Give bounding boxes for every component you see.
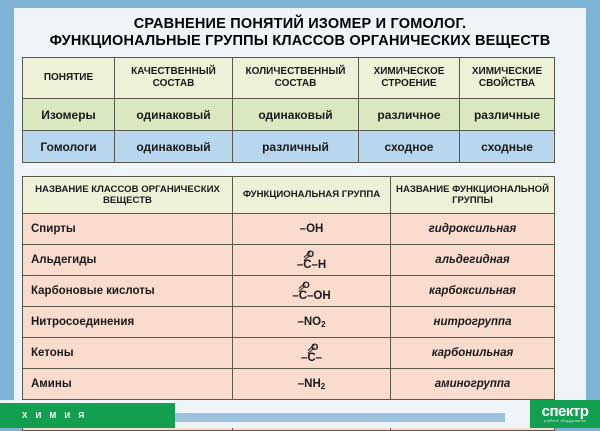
table1-header-row: ПОНЯТИЕ КАЧЕСТВЕННЫЙ СОСТАВ КОЛИЧЕСТВЕНН… (23, 58, 555, 99)
table1-cell-structure: сходное (359, 131, 460, 163)
table-row: Изомеры одинаковый одинаковый различное … (23, 99, 555, 131)
table2-cell-group-name: аминогруппа (391, 369, 555, 400)
table2-cell-group-name: нитрогруппа (391, 307, 555, 338)
table1-header-qualitative: КАЧЕСТВЕННЫЙ СОСТАВ (115, 58, 233, 99)
table1-cell-quantitative: различный (233, 131, 359, 163)
table2-cell-group-name: альдегидная (391, 245, 555, 276)
table-row: Гомологи одинаковый различный сходное сх… (23, 131, 555, 163)
table1-cell-concept: Изомеры (23, 99, 115, 131)
table-row: Нитросоединения –NO2 нитрогруппа (23, 307, 555, 338)
table-row: Амины –NH2 аминогруппа (23, 369, 555, 400)
formula-carboxyl: O–C–OH (233, 276, 391, 307)
table-row: Спирты –OH гидроксильная (23, 214, 555, 245)
page-title: СРАВНЕНИЕ ПОНЯТИЙ ИЗОМЕР И ГОМОЛОГ. ФУНК… (14, 8, 586, 56)
title-line-2: ФУНКЦИОНАЛЬНЫЕ ГРУППЫ КЛАССОВ ОРГАНИЧЕСК… (18, 33, 582, 50)
table2-cell-class: Нитросоединения (23, 307, 233, 338)
table2-cell-group-name: карбоксильная (391, 276, 555, 307)
subject-label: Х И М И Я (22, 411, 87, 420)
table-row: Альдегиды O–C–H альдегидная (23, 245, 555, 276)
subject-badge: Х И М И Я (0, 403, 175, 428)
comparison-table: ПОНЯТИЕ КАЧЕСТВЕННЫЙ СОСТАВ КОЛИЧЕСТВЕНН… (22, 57, 555, 163)
table1-cell-qualitative: одинаковый (115, 131, 233, 163)
functional-groups-table: НАЗВАНИЕ КЛАССОВ ОРГАНИЧЕСКИХ ВЕЩЕСТВ ФУ… (22, 176, 555, 431)
table1-header-properties: ХИМИЧЕСКИЕ СВОЙСТВА (460, 58, 555, 99)
formula-aldehyde: O–C–H (233, 245, 391, 276)
table1-cell-qualitative: одинаковый (115, 99, 233, 131)
formula-nitro: –NO2 (233, 307, 391, 338)
publisher-logo-text: спектр (542, 405, 589, 419)
table2-header-class: НАЗВАНИЕ КЛАССОВ ОРГАНИЧЕСКИХ ВЕЩЕСТВ (23, 177, 233, 214)
table2-cell-class: Кетоны (23, 338, 233, 369)
formula-hydroxyl: –OH (233, 214, 391, 245)
table-row: Карбоновые кислоты O–C–OH карбоксильная (23, 276, 555, 307)
footer-blue-strip (175, 413, 505, 422)
table2-cell-group-name: карбонильная (391, 338, 555, 369)
table2-header-row: НАЗВАНИЕ КЛАССОВ ОРГАНИЧЕСКИХ ВЕЩЕСТВ ФУ… (23, 177, 555, 214)
table1-cell-concept: Гомологи (23, 131, 115, 163)
table1-cell-quantitative: одинаковый (233, 99, 359, 131)
table2-header-group: ФУНКЦИОНАЛЬНАЯ ГРУППА (233, 177, 391, 214)
poster: СРАВНЕНИЕ ПОНЯТИЙ ИЗОМЕР И ГОМОЛОГ. ФУНК… (0, 0, 600, 428)
publisher-logo-subtext: учебное оборудование (544, 419, 586, 424)
table1-cell-properties: различные (460, 99, 555, 131)
publisher-logo: спектр учебное оборудование (530, 400, 600, 428)
formula-carbonyl: O–C– (233, 338, 391, 369)
table2-cell-class: Амины (23, 369, 233, 400)
table2-cell-class: Спирты (23, 214, 233, 245)
table2-cell-class: Альдегиды (23, 245, 233, 276)
table1-header-concept: ПОНЯТИЕ (23, 58, 115, 99)
table1-header-quantitative: КОЛИЧЕСТВЕННЫЙ СОСТАВ (233, 58, 359, 99)
table1-header-structure: ХИМИЧЕСКОЕ СТРОЕНИЕ (359, 58, 460, 99)
table2-cell-class: Карбоновые кислоты (23, 276, 233, 307)
table1-cell-structure: различное (359, 99, 460, 131)
formula-amino: –NH2 (233, 369, 391, 400)
table-row: Кетоны O–C– карбонильная (23, 338, 555, 369)
table2-header-group-name: НАЗВАНИЕ ФУНКЦИОНАЛЬНОЙ ГРУППЫ (391, 177, 555, 214)
title-line-1: СРАВНЕНИЕ ПОНЯТИЙ ИЗОМЕР И ГОМОЛОГ. (18, 16, 582, 33)
table2-cell-group-name: гидроксильная (391, 214, 555, 245)
table1-cell-properties: сходные (460, 131, 555, 163)
